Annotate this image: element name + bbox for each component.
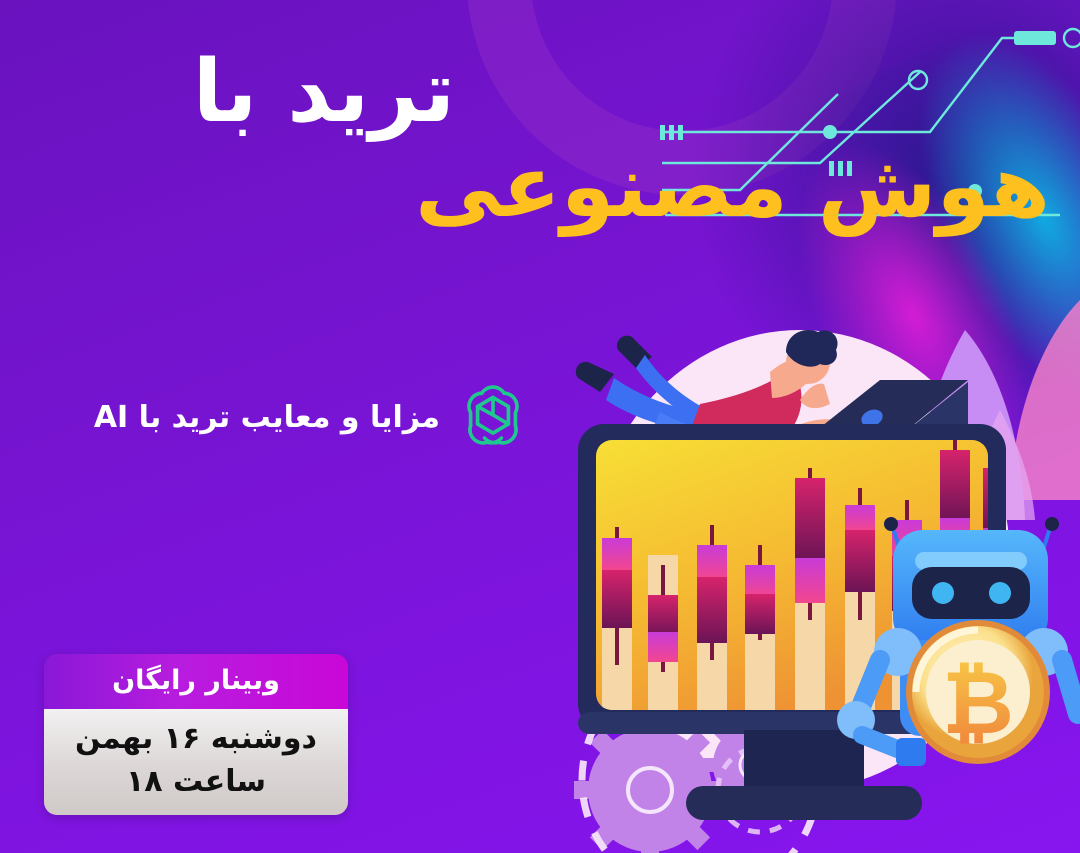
- svg-text:₿: ₿: [942, 651, 1014, 754]
- card-body: دوشنبه ۱۶ بهمن ساعت ۱۸: [44, 709, 348, 815]
- webinar-date: دوشنبه ۱۶ بهمن: [44, 718, 348, 761]
- banner-root: ترید با هوش مصنوعی مزایا و معایب ترید با…: [0, 0, 1080, 853]
- webinar-info-card: وبینار رایگان دوشنبه ۱۶ بهمن ساعت ۱۸: [44, 654, 348, 815]
- card-header: وبینار رایگان: [44, 654, 348, 709]
- webinar-time: ساعت ۱۸: [44, 761, 348, 804]
- bitcoin-coin: ₿: [906, 620, 1050, 764]
